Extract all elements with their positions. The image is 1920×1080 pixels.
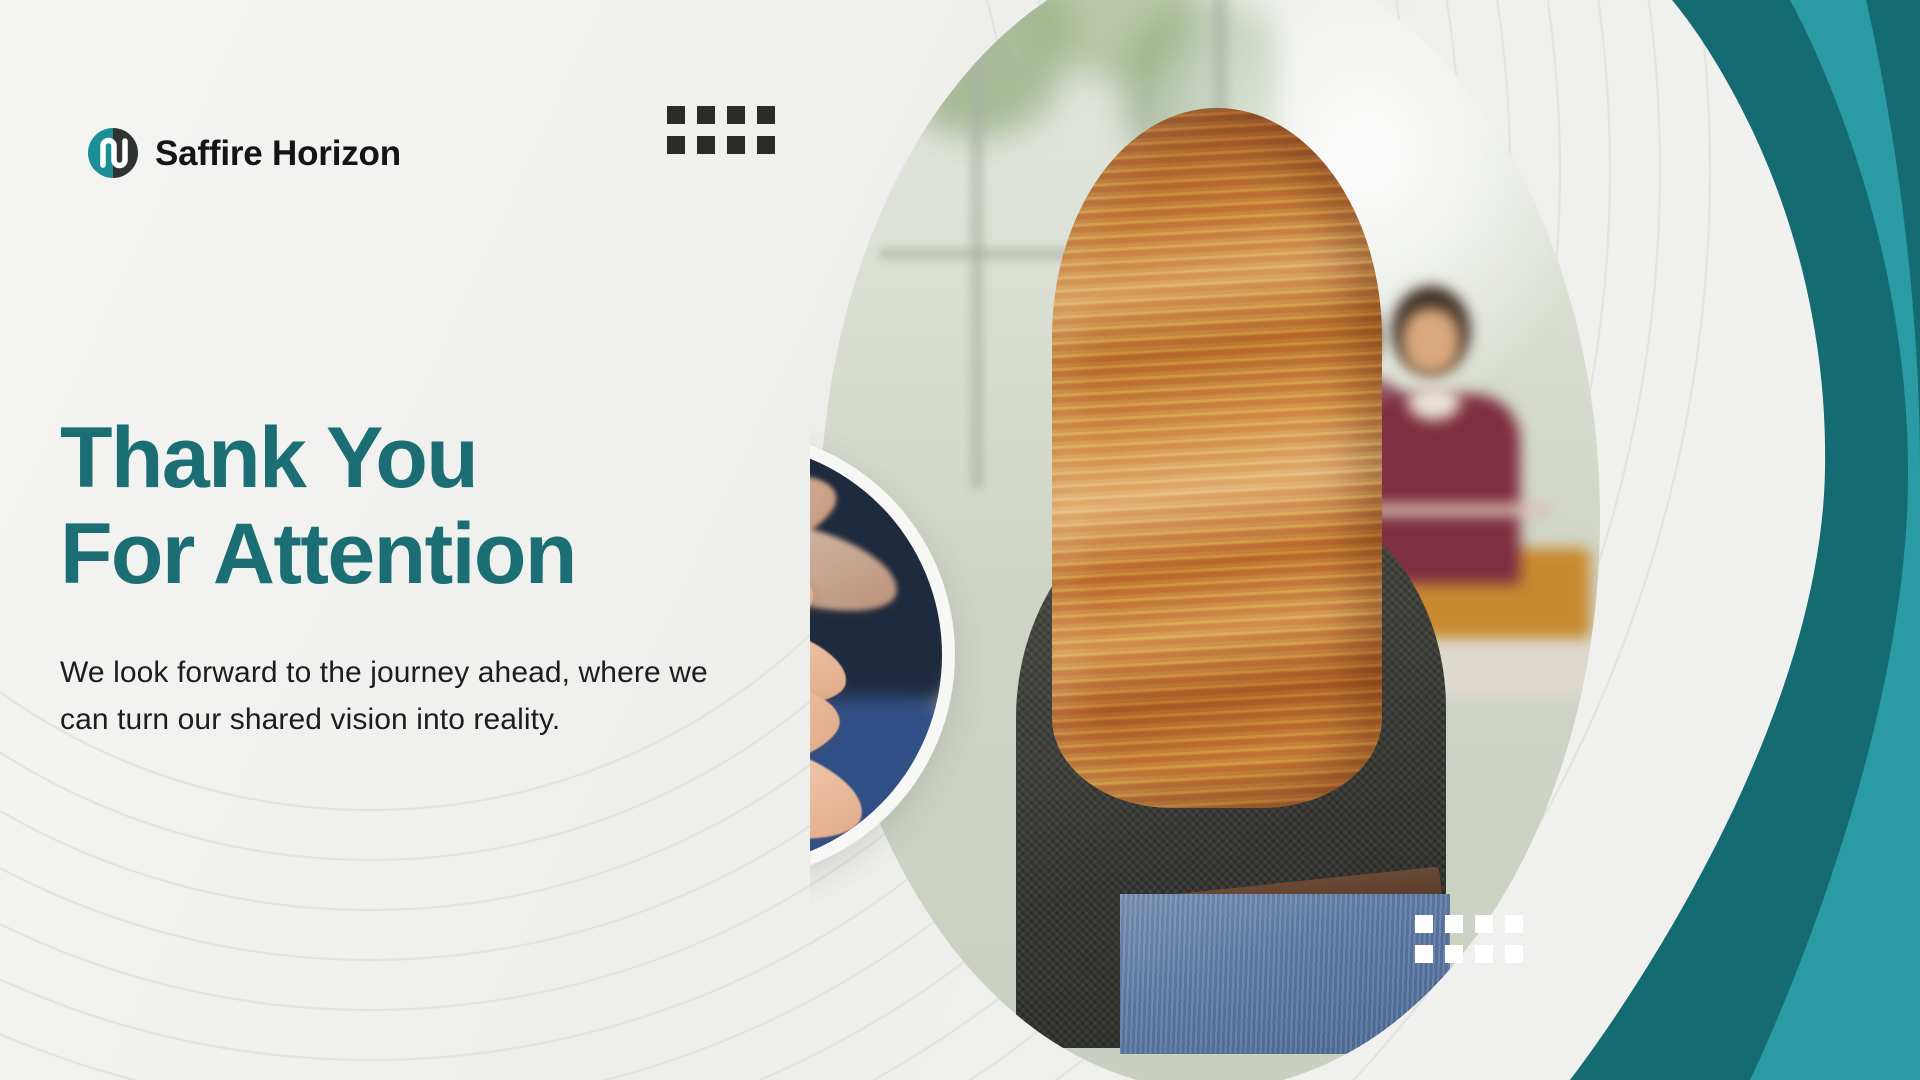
dot-grid-icon-light: [1415, 915, 1523, 963]
headline-line-1: Thank You: [60, 410, 477, 506]
thank-you-slide: Saffire Horizon Thank You For Attention …: [0, 0, 1920, 1080]
clapping-hands-inner: [810, 443, 942, 867]
subcopy-text: We look forward to the journey ahead, wh…: [60, 650, 760, 744]
background-person-collar: [1408, 386, 1460, 420]
wave-light-teal: [1750, 0, 1920, 1080]
window-mullion: [970, 0, 984, 488]
dot-grid-icon-dark: [667, 106, 775, 154]
page-title: Thank You For Attention: [60, 410, 840, 603]
woman-jeans: [1120, 894, 1450, 1054]
circular-n-monogram-icon: [88, 128, 138, 178]
wave-dark-teal: [1570, 0, 1920, 1080]
woman-hair: [1052, 108, 1382, 808]
brand-name: Saffire Horizon: [155, 136, 401, 171]
brand-logo[interactable]: Saffire Horizon: [88, 128, 401, 178]
headline-line-2: For Attention: [60, 506, 840, 602]
wave-dark-teal-tip: [1866, 0, 1920, 470]
clapping-hands-photo: [810, 430, 955, 880]
background-person-face: [1402, 308, 1460, 374]
artwork-panel: [810, 0, 1920, 1080]
